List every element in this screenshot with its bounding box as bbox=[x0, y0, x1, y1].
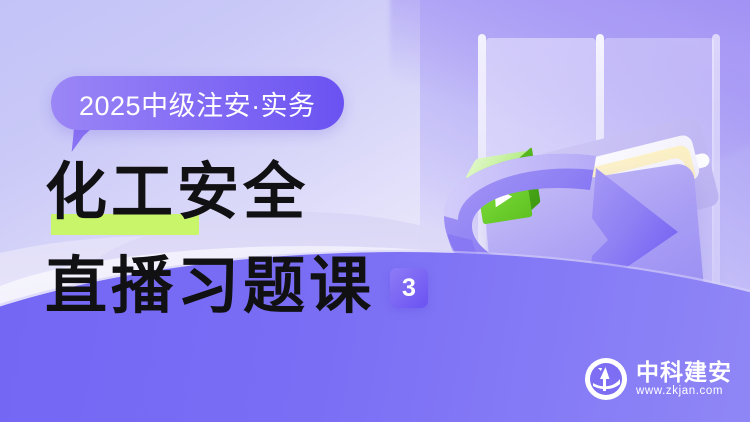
title-line-1: 化工安全 bbox=[45, 152, 475, 232]
course-category-label: 2025中级注安·实务 bbox=[79, 84, 316, 123]
brand-logo[interactable]: 中科建安 www.zkjan.com bbox=[585, 358, 732, 400]
brand-logo-icon bbox=[585, 358, 627, 400]
brand-name: 中科建安 bbox=[636, 360, 732, 384]
brand-url: www.zkjan.com bbox=[636, 386, 732, 398]
brand-logo-text: 中科建安 www.zkjan.com bbox=[636, 360, 732, 398]
course-banner: 2025中级注安·实务 化工安全 直播习题课 3 bbox=[0, 0, 750, 422]
banner-title: 化工安全 直播习题课 3 bbox=[45, 152, 475, 326]
title-line-1-text: 化工安全 bbox=[45, 152, 475, 232]
zkjan-circle-mark-icon bbox=[589, 362, 623, 396]
episode-number-label: 3 bbox=[402, 276, 416, 301]
course-category-badge: 2025中级注安·实务 bbox=[51, 76, 344, 130]
title-line-2: 直播习题课 3 bbox=[45, 246, 475, 326]
title-line-2-text: 直播习题课 bbox=[45, 246, 375, 326]
episode-number-badge: 3 bbox=[390, 268, 428, 308]
banner-text-content: 2025中级注安·实务 化工安全 直播习题课 3 bbox=[0, 0, 470, 422]
